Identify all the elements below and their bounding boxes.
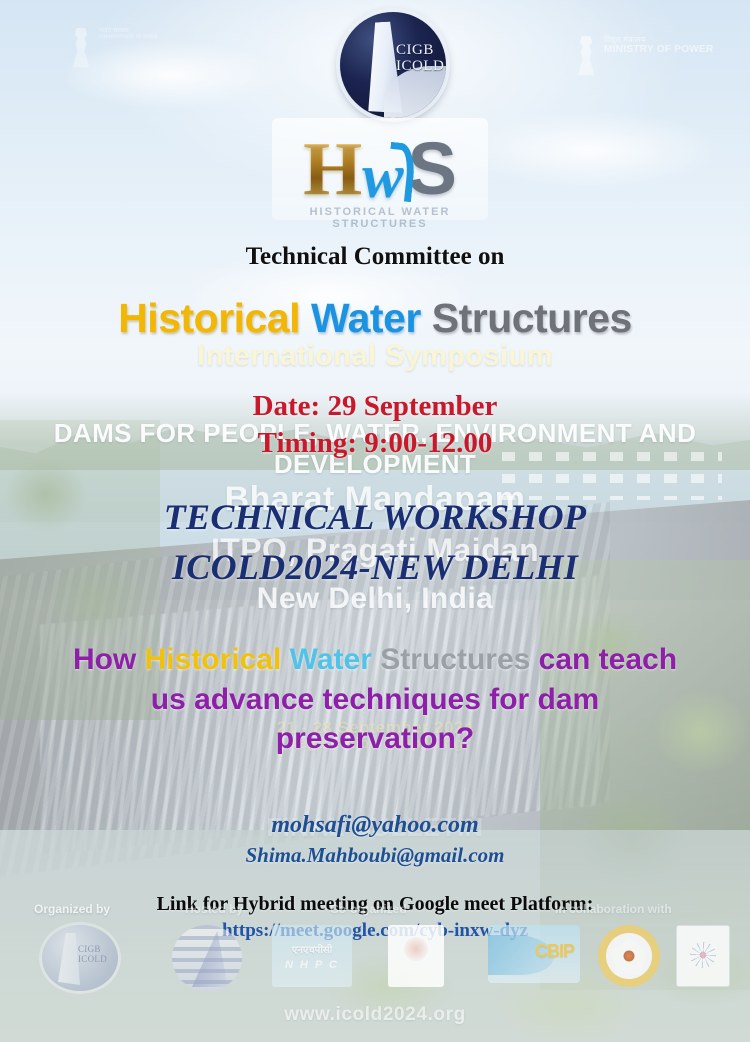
cbip-logo: CBIP	[488, 925, 580, 983]
ministry-of-power-emblem: विद्युत मंत्रालय MINISTRY OF POWER	[575, 36, 725, 96]
emblem-dot-icon	[404, 937, 428, 961]
government-of-india-emblem: भारत सरकार Government of India	[70, 28, 280, 94]
question-line-1: How Historical Water Structures can teac…	[30, 640, 720, 680]
hws-letter-h: H	[303, 131, 362, 207]
web-card-logo	[676, 925, 730, 987]
hws-logo-subtitle: HISTORICAL WATER STRUCTURES	[272, 206, 488, 230]
workshop-heading: TECHNICAL WORKSHOP ICOLD2024-NEW DELHI	[0, 492, 750, 593]
event-timing: Timing: 9:00-12.00	[0, 425, 750, 462]
question-line-2: us advance techniques for dam	[30, 680, 720, 720]
contact-email-2[interactable]: Shima.Mahboubi@gmail.com	[0, 842, 750, 870]
icold-logo-line1: CIGB	[396, 42, 444, 58]
ashoka-pillar-icon	[575, 36, 597, 82]
contact-emails: mohsafi@yahoo.com Shima.Mahboubi@gmail.c…	[0, 810, 750, 869]
stripe-pattern-icon	[172, 925, 242, 991]
globe-web-icon	[690, 942, 716, 968]
nhpc-logo: एनएचपीसी N H P C	[272, 925, 352, 987]
ashoka-pillar-icon	[70, 28, 92, 74]
footer-logo-strip: CIGB ICOLD एनएचपीसी N H P C CBIP	[0, 925, 750, 993]
title-word-structures: Structures	[432, 295, 632, 341]
hws-wordmark-logo: H w S	[272, 118, 488, 220]
label-co-organized: Co-organized	[330, 902, 407, 916]
dam-curve-icon	[58, 933, 80, 985]
label-hosted-by: Hosted by	[185, 902, 243, 916]
page-title: Historical Water Structures	[0, 295, 750, 342]
title-word-water: Water	[311, 295, 421, 341]
icold-logo-line2: ICOLD	[396, 58, 444, 74]
white-card-logo	[388, 925, 444, 987]
question-word-canteach: can teach	[539, 643, 677, 676]
schedule-block: Date: 29 September Timing: 9:00-12.00	[0, 388, 750, 462]
question-word-water: Water	[290, 643, 372, 676]
question-word-how: How	[73, 643, 136, 676]
inco-ellipse-logo	[172, 925, 242, 991]
contact-email-1[interactable]: mohsafi@yahoo.com	[0, 810, 750, 842]
emblem-right-english: MINISTRY OF POWER	[604, 45, 714, 56]
workshop-line-2: ICOLD2024-NEW DELHI	[0, 542, 750, 592]
label-in-collaboration: In collaboration with	[555, 902, 672, 916]
workshop-line-1: TECHNICAL WORKSHOP	[0, 492, 750, 542]
event-website[interactable]: www.icold2024.org	[0, 1004, 750, 1026]
cigb-icold-logo: CIGB ICOLD	[340, 12, 446, 118]
cigb-icold-footer-text: CIGB ICOLD	[78, 945, 118, 965]
nhpc-english-text: N H P C	[285, 959, 339, 971]
question-word-structures: Structures	[380, 643, 530, 676]
event-date: Date: 29 September	[0, 388, 750, 425]
cbip-logo-text: CBIP	[535, 941, 574, 962]
technical-committee-label: Technical Committee on	[0, 243, 750, 271]
emblem-left-english: Government of India	[99, 34, 157, 40]
question-line-3: preservation?	[30, 719, 720, 759]
workshop-question: How Historical Water Structures can teac…	[0, 640, 750, 759]
hws-letter-s: S	[408, 132, 457, 206]
footer-partner-labels: Organized by Hosted by Co-organized In c…	[0, 902, 750, 922]
question-word-historical: Historical	[145, 643, 282, 676]
nhpc-hindi-text: एनएचपीसी	[292, 942, 333, 956]
label-organized-by: Organized by	[34, 902, 110, 916]
cigb-icold-logo-footer: CIGB ICOLD	[42, 925, 118, 991]
center-dot-icon	[624, 951, 635, 962]
title-word-historical: Historical	[118, 295, 300, 341]
poster-canvas: International Symposium DAMS FOR PEOPLE,…	[0, 0, 750, 1042]
gold-circle-logo	[598, 925, 660, 987]
